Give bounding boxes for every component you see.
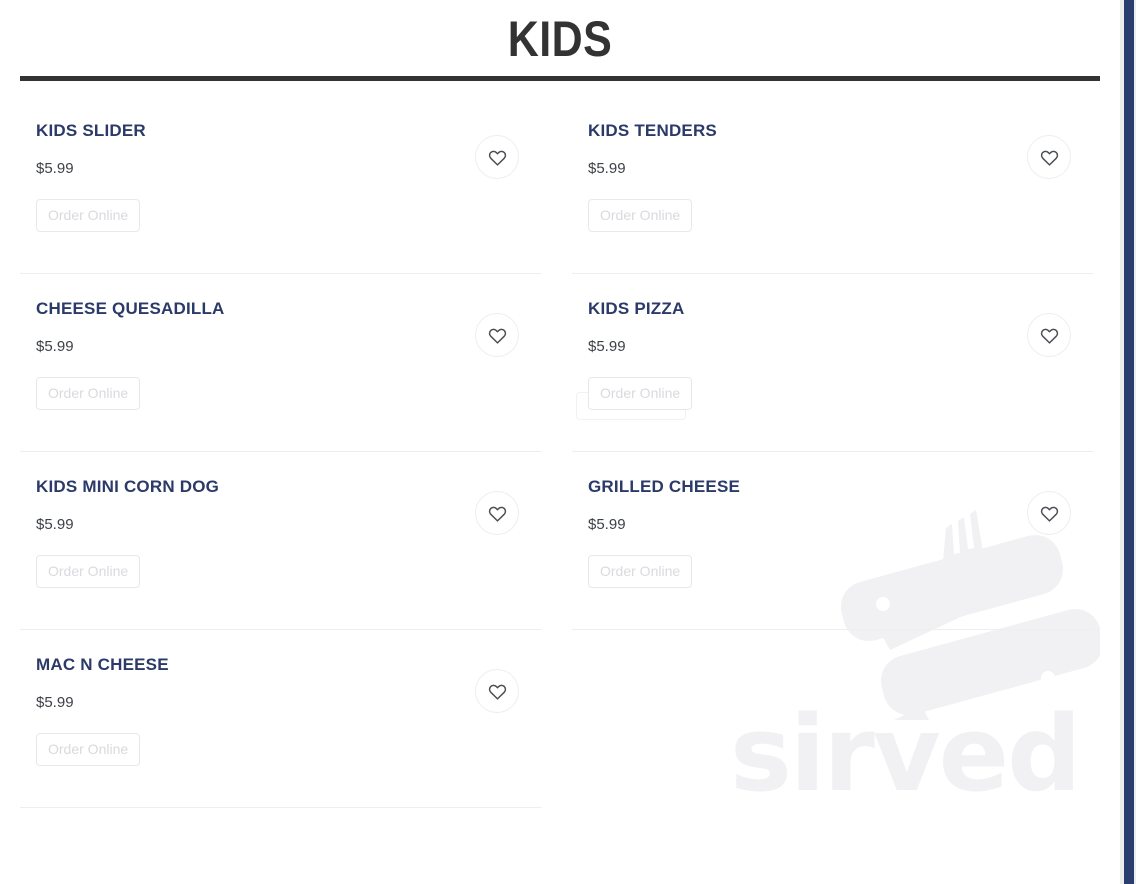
order-online-button[interactable]: Order Online <box>588 199 692 232</box>
heart-icon <box>1040 327 1059 344</box>
menu-item[interactable]: KIDS PIZZA $5.99 Order Online <box>572 274 1093 452</box>
favorite-button[interactable] <box>1027 135 1071 179</box>
menu-item[interactable]: KIDS MINI CORN DOG $5.99 Order Online <box>20 452 541 630</box>
heart-icon <box>488 149 507 166</box>
order-online-button[interactable]: Order Online <box>36 555 140 588</box>
menu-item-name: MAC N CHEESE <box>36 656 541 675</box>
menu-item-price: $5.99 <box>36 339 541 356</box>
menu-page: sirved KIDS KIDS SLIDER $5.99 Order Onli… <box>0 0 1136 884</box>
menu-item-price: $5.99 <box>588 161 1093 178</box>
section-header: KIDS <box>20 0 1100 81</box>
menu-item[interactable]: KIDS TENDERS $5.99 Order Online <box>572 96 1093 274</box>
menu-item[interactable]: CHEESE QUESADILLA $5.99 Order Online <box>20 274 541 452</box>
favorite-button[interactable] <box>475 491 519 535</box>
menu-column-right: KIDS TENDERS $5.99 Order Online KIDS PIZ… <box>572 96 1093 808</box>
favorite-button[interactable] <box>475 135 519 179</box>
menu-item-price: $5.99 <box>588 339 1093 356</box>
menu-column-left: KIDS SLIDER $5.99 Order Online CHEESE QU… <box>20 96 541 808</box>
menu-item[interactable]: KIDS SLIDER $5.99 Order Online <box>20 96 541 274</box>
heart-icon <box>488 505 507 522</box>
menu-item[interactable]: MAC N CHEESE $5.99 Order Online <box>20 630 541 808</box>
menu-item-price: $5.99 <box>36 161 541 178</box>
favorite-button[interactable] <box>1027 313 1071 357</box>
menu-item[interactable]: GRILLED CHEESE $5.99 Order Online <box>572 452 1093 630</box>
order-online-button[interactable]: Order Online <box>588 377 692 410</box>
menu-item-price: $5.99 <box>588 517 1093 534</box>
menu-grid: KIDS SLIDER $5.99 Order Online CHEESE QU… <box>20 96 1100 808</box>
menu-item-price: $5.99 <box>36 517 541 534</box>
order-online-button[interactable]: Order Online <box>36 377 140 410</box>
favorite-button[interactable] <box>475 669 519 713</box>
favorite-button[interactable] <box>475 313 519 357</box>
menu-item-name: KIDS PIZZA <box>588 300 1093 319</box>
title-divider <box>20 76 1100 81</box>
order-online-button[interactable]: Order Online <box>36 733 140 766</box>
page-scrollbar-track[interactable] <box>1120 0 1136 884</box>
order-online-button[interactable]: Order Online <box>588 555 692 588</box>
menu-item-name: KIDS SLIDER <box>36 122 541 141</box>
content-area: KIDS KIDS SLIDER $5.99 Order Online <box>0 0 1120 884</box>
page-scrollbar-thumb[interactable] <box>1124 0 1134 884</box>
menu-item-name: KIDS TENDERS <box>588 122 1093 141</box>
menu-item-name: CHEESE QUESADILLA <box>36 300 541 319</box>
menu-item-name: KIDS MINI CORN DOG <box>36 478 541 497</box>
favorite-button[interactable] <box>1027 491 1071 535</box>
page-title: KIDS <box>96 0 1025 70</box>
heart-icon <box>488 327 507 344</box>
menu-item-price: $5.99 <box>36 695 541 712</box>
heart-icon <box>1040 505 1059 522</box>
order-online-button[interactable]: Order Online <box>36 199 140 232</box>
heart-icon <box>1040 149 1059 166</box>
menu-item-name: GRILLED CHEESE <box>588 478 1093 497</box>
heart-icon <box>488 683 507 700</box>
